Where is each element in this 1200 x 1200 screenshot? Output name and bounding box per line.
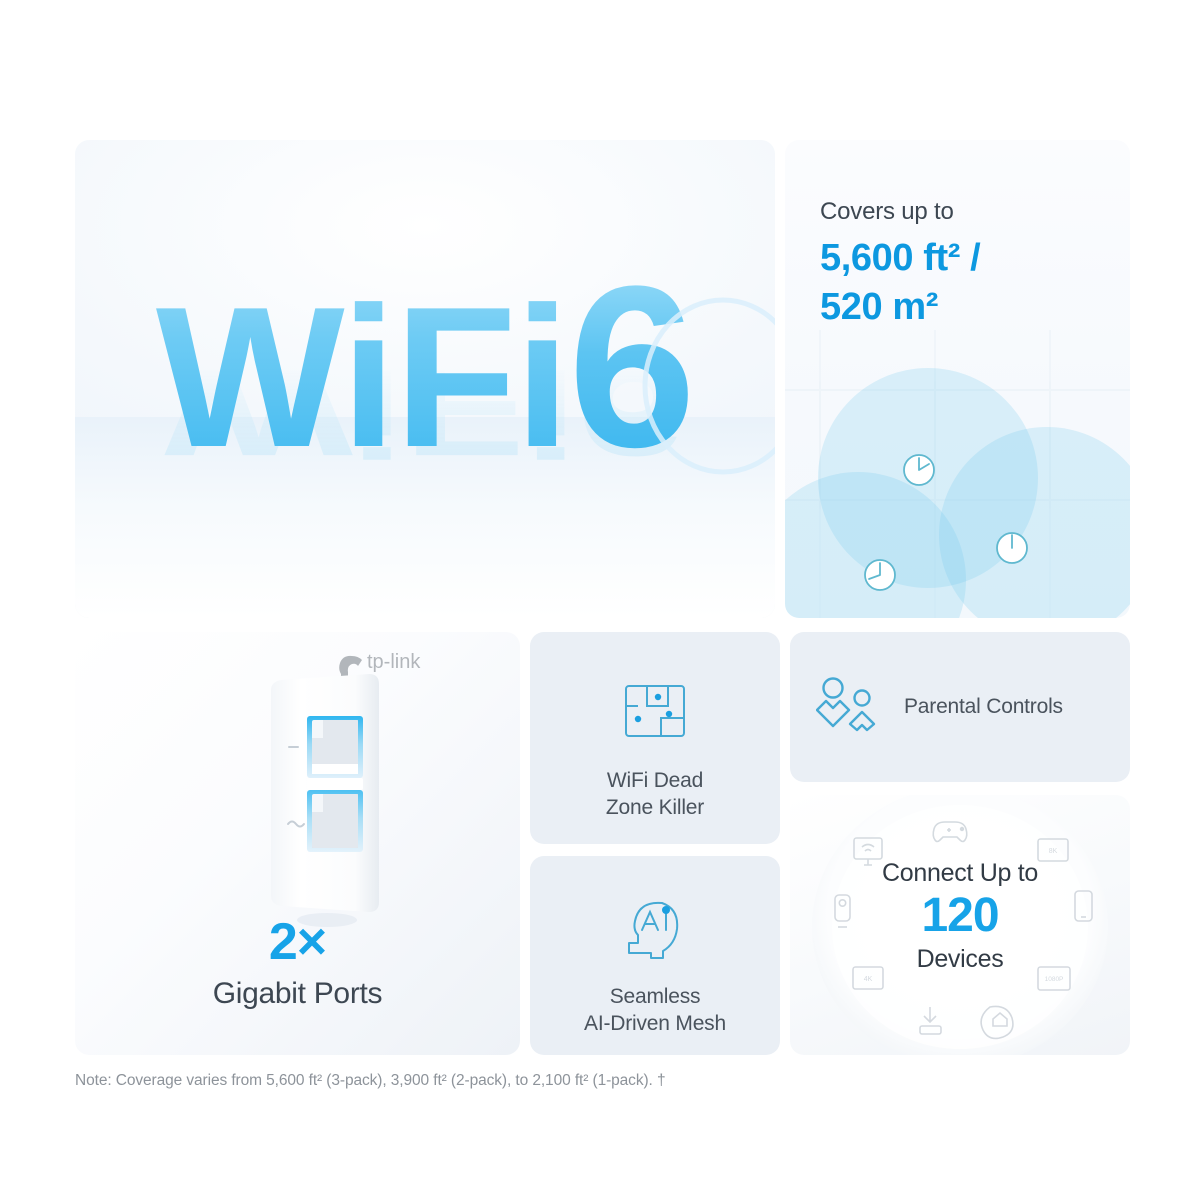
feature-card-dead-zone-text: WiFi Dead Zone Killer: [530, 768, 780, 822]
svg-text:tp-link: tp-link: [367, 651, 421, 673]
feature-card-parental-controls: Parental Controls: [790, 632, 1130, 782]
parental-controls-label: Parental Controls: [904, 695, 1063, 719]
ai-head-icon: [530, 900, 780, 960]
feature-line-2: AI-Driven Mesh: [530, 1011, 780, 1038]
feature-card-dead-zone: WiFi Dead Zone Killer: [530, 632, 780, 844]
coverage-value-line2: 520 m²: [820, 283, 980, 332]
coverage-circles-diagram: [785, 330, 1130, 618]
svg-text:8K: 8K: [1049, 848, 1058, 855]
footnote: Note: Coverage varies from 5,600 ft² (3-…: [75, 1072, 665, 1090]
gigabit-ports-label: Gigabit Ports: [75, 977, 520, 1011]
svg-text:1080P: 1080P: [1045, 976, 1064, 983]
hero-logo-six-text: 6: [568, 238, 694, 495]
svg-text:4K: 4K: [864, 976, 873, 983]
feature-card-ai-mesh: Seamless AI-Driven Mesh: [530, 856, 780, 1055]
product-infographic: WiFi6 WiFi6 Dual Band WiFi 6 AX1500 Cove…: [0, 0, 1200, 1200]
floor-plan-icon: [530, 684, 780, 738]
coverage-marker-3: [865, 560, 895, 590]
hero-panel-wifi6: WiFi6 WiFi6 Dual Band WiFi 6 AX1500: [75, 140, 775, 618]
feature-line-1: WiFi Dead: [530, 768, 780, 795]
connected-devices-top-label: Connect Up to: [790, 859, 1130, 888]
connected-devices-text: Connect Up to 120 Devices: [790, 859, 1130, 974]
gigabit-ports-panel: tp-link: [75, 632, 520, 1055]
connected-devices-panel: 8K 4K: [790, 795, 1130, 1055]
coverage-panel: Covers up to 5,600 ft² / 520 m²: [785, 140, 1130, 618]
feature-card-ai-mesh-text: Seamless AI-Driven Mesh: [530, 984, 780, 1038]
router-port-2: [307, 790, 363, 852]
feature-line-2: Zone Killer: [530, 795, 780, 822]
feature-grid: WiFi6 WiFi6 Dual Band WiFi 6 AX1500 Cove…: [75, 140, 1130, 1055]
parent-child-icon: [816, 676, 882, 739]
router-product-image: tp-link: [75, 632, 520, 932]
router-port-1: [307, 716, 363, 778]
gigabit-ports-count: 2×: [75, 912, 520, 972]
coverage-value-line1: 5,600 ft² /: [820, 234, 980, 283]
connected-devices-count: 120: [790, 888, 1130, 945]
hero-logo-wifi-text: WiFi: [156, 266, 568, 489]
coverage-label: Covers up to: [820, 198, 954, 226]
coverage-marker-1: [904, 455, 934, 485]
hero-logo: WiFi6: [75, 252, 775, 482]
coverage-value: 5,600 ft² / 520 m²: [820, 234, 980, 333]
feature-line-1: Seamless: [530, 984, 780, 1011]
coverage-marker-2: [997, 533, 1027, 563]
connected-devices-bottom-label: Devices: [790, 945, 1130, 974]
